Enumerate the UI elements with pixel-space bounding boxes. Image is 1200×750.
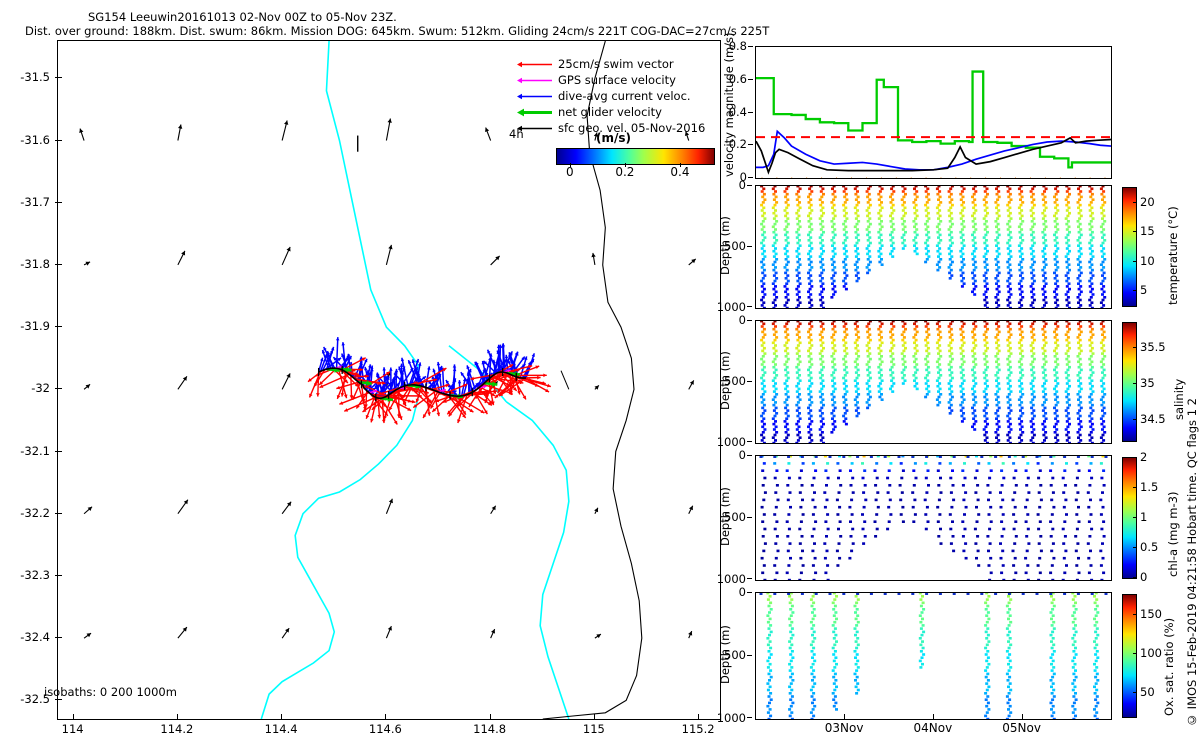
colorbar-tick-mark	[1133, 614, 1137, 615]
colorbar-tick-label: 20	[1140, 195, 1155, 209]
oxygen-panel[interactable]	[755, 592, 1112, 720]
map-x-tick-label: 114.4	[265, 722, 298, 736]
map-x-tick-mark	[177, 714, 178, 720]
temperature-colorbar-gradient	[1123, 188, 1136, 306]
map-x-tick-mark	[73, 714, 74, 720]
map-legend-label: dive-avg current veloc.	[558, 89, 691, 103]
salinity-ytick-label: 1000	[717, 435, 746, 449]
colorbar-tick-mark	[1133, 231, 1137, 232]
map-y-tick-mark	[55, 575, 62, 576]
legend-arrow-icon	[516, 59, 552, 70]
map-legend-item-1: GPS surface velocity	[516, 72, 716, 88]
oxygen-ytick-label-mark	[747, 592, 752, 593]
velocity-ytick-mark	[748, 112, 753, 113]
map-y-tick-mark	[55, 77, 62, 78]
colorbar-tick-mark	[1133, 487, 1137, 488]
colorbar-tick-label: 10	[1140, 254, 1155, 268]
map-colorbar-gradient	[557, 149, 714, 164]
colorbar-tick-label: 34.5	[1140, 412, 1166, 426]
salinity-ytick-label: 500	[724, 374, 746, 388]
temperature-yticks: 05001000	[712, 185, 752, 307]
map-colorbar-tick-label: 0	[566, 165, 574, 179]
colorbar-tick-label: 35	[1140, 376, 1155, 390]
map-y-tick-label: -31.5	[20, 70, 50, 84]
colorbar-tick-label: 1	[1140, 510, 1147, 524]
temperature-ytick-label: 0	[739, 178, 746, 192]
velocity-ytick-mark	[748, 177, 753, 178]
colorbar-tick-label: 100	[1140, 646, 1162, 660]
imos-credit: © IMOS 15-Feb-2019 04:21:58 Hobart time.…	[1185, 398, 1199, 727]
map-legend-label: GPS surface velocity	[558, 73, 676, 87]
isobaths-label: isobaths: 0 200 1000m	[44, 685, 177, 699]
time-axis-tick-mark	[1022, 714, 1023, 720]
map-y-tick-label: -31.7	[20, 195, 50, 209]
colorbar-tick-label: 50	[1140, 685, 1155, 699]
velocity-ytick-label: 0.2	[729, 137, 747, 151]
map-x-tick-label: 114.2	[160, 722, 193, 736]
map-legend-item-0: 25cm/s swim vector	[516, 56, 716, 72]
oxygen-ytick-label: 500	[724, 648, 746, 662]
time-axis-tick-mark	[844, 714, 845, 720]
velocity-magnitude-yticks: 00.20.40.60.8	[715, 46, 753, 177]
colorbar-tick-label: 0.5	[1140, 540, 1158, 554]
map-x-axis: 114114.2114.4114.6114.8115115.2	[57, 720, 719, 740]
temperature-ytick-label-mark	[747, 246, 752, 247]
colorbar-tick-label: 15	[1140, 224, 1155, 238]
chlorophyll-ytick-label: 500	[724, 510, 746, 524]
oxygen-ytick-label: 1000	[717, 711, 746, 725]
map-y-tick-mark	[55, 140, 62, 141]
map-x-tick-label: 114.8	[473, 722, 506, 736]
salinity-ytick-label-mark	[747, 441, 752, 442]
legend-arrow-icon	[516, 75, 552, 86]
time-axis-tick-mark	[933, 714, 934, 720]
map-x-tick-label: 114.6	[369, 722, 402, 736]
colorbar-tick-mark	[1133, 457, 1137, 458]
oxygen-ytick-label: 0	[739, 585, 746, 599]
colorbar-tick-mark	[1133, 547, 1137, 548]
legend-arrow-icon	[516, 91, 552, 102]
colorbar-tick-mark	[1133, 261, 1137, 262]
chlorophyll-colorbar-label: chl-a (mg m-3)	[1166, 457, 1180, 577]
map-y-tick-mark	[55, 388, 62, 389]
map-y-tick-mark	[55, 326, 62, 327]
velocity-magnitude-plot	[756, 47, 1111, 178]
temperature-section-plot	[756, 186, 1111, 308]
velocity-ytick-label: 0.6	[729, 72, 747, 86]
velocity-ytick-label: 0.8	[729, 39, 747, 53]
map-legend-label: net glider velocity	[558, 105, 662, 119]
map-x-tick-label: 115.2	[682, 722, 715, 736]
time-axis-labels: 03Nov04Nov05Nov	[755, 720, 1110, 738]
temperature-ytick-label: 500	[724, 239, 746, 253]
oxygen-yticks: 05001000	[712, 592, 752, 718]
page-title-line1: SG154 Leeuwin20161013 02-Nov 00Z to 05-N…	[88, 10, 397, 24]
colorbar-tick-label: 5	[1140, 283, 1147, 297]
time-axis-tick-label: 03Nov	[825, 721, 864, 735]
map-x-tick-label: 114	[62, 722, 84, 736]
salinity-ytick-label-mark	[747, 320, 752, 321]
chlorophyll-ytick-label: 1000	[717, 572, 746, 586]
map-legend-label: sfc geo. vel. 05-Nov-2016	[558, 121, 705, 135]
legend-arrow-icon	[516, 107, 552, 118]
map-y-axis: -31.5-31.6-31.7-31.8-31.9-32-32.1-32.2-3…	[0, 40, 55, 718]
chlorophyll-ytick-label-mark	[747, 455, 752, 456]
map-y-tick-label: -32.1	[20, 444, 50, 458]
temperature-colorbar	[1122, 187, 1137, 307]
oxygen-ytick-label-mark	[747, 655, 752, 656]
map-colorbar-ticks: 00.20.4	[546, 164, 726, 180]
colorbar-tick-label: 35.5	[1140, 340, 1166, 354]
map-x-tick-mark	[490, 714, 491, 720]
chlorophyll-colorbar	[1122, 457, 1137, 579]
chlorophyll-colorbar-gradient	[1123, 458, 1136, 578]
salinity-ytick-label: 0	[739, 313, 746, 327]
map-colorbar-tick-label: 0.2	[615, 165, 634, 179]
map-y-tick-label: -31.8	[20, 257, 50, 271]
map-y-tick-mark	[55, 637, 62, 638]
oxygen-colorbar	[1122, 594, 1137, 718]
colorbar-tick-mark	[1133, 290, 1137, 291]
map-colorbar-tick-label: 0.4	[670, 165, 689, 179]
map-y-tick-label: -31.6	[20, 133, 50, 147]
time-axis-tick-label: 04Nov	[913, 721, 952, 735]
colorbar-tick-label: 1.5	[1140, 480, 1158, 494]
map-colorbar	[556, 148, 715, 165]
map-y-tick-mark	[55, 513, 62, 514]
map-y-tick-mark	[55, 264, 62, 265]
page-title-line2: Dist. over ground: 188km. Dist. swum: 86…	[25, 24, 769, 38]
colorbar-tick-mark	[1133, 419, 1137, 420]
map-y-tick-mark	[55, 202, 62, 203]
map-x-tick-mark	[385, 714, 386, 720]
map-legend-item-2: dive-avg current veloc.	[516, 88, 716, 104]
colorbar-tick-mark	[1133, 383, 1137, 384]
map-y-tick-mark	[55, 451, 62, 452]
map-y-tick-label: -32.4	[20, 630, 50, 644]
salinity-section-plot	[756, 321, 1111, 443]
salinity-colorbar-label: salinity	[1172, 340, 1186, 420]
map-y-tick-label: -31.9	[20, 319, 50, 333]
colorbar-tick-mark	[1133, 517, 1137, 518]
colorbar-tick-mark	[1133, 577, 1137, 578]
map-x-tick-label: 115	[583, 722, 605, 736]
map-y-tick-label: -32	[31, 381, 50, 395]
legend-arrow-icon	[516, 123, 552, 134]
temperature-ytick-label-mark	[747, 306, 752, 307]
salinity-panel[interactable]	[755, 320, 1112, 444]
velocity-ytick-mark	[748, 46, 753, 47]
map-x-tick-mark	[594, 714, 595, 720]
salinity-yticks: 05001000	[712, 320, 752, 442]
colorbar-tick-mark	[1133, 347, 1137, 348]
chlorophyll-section-plot	[756, 456, 1111, 580]
map-x-tick-mark	[281, 714, 282, 720]
temperature-colorbar-label: temperature (°C)	[1166, 187, 1180, 305]
map-y-tick-label: -32.2	[20, 506, 50, 520]
chlorophyll-panel[interactable]	[755, 455, 1112, 581]
map-y-tick-label: -32.3	[20, 568, 50, 582]
colorbar-tick-mark	[1133, 653, 1137, 654]
chlorophyll-ytick-label: 0	[739, 448, 746, 462]
temperature-ytick-label-mark	[747, 185, 752, 186]
temperature-panel[interactable]	[755, 185, 1112, 309]
colorbar-tick-mark	[1133, 692, 1137, 693]
salinity-ytick-label-mark	[747, 381, 752, 382]
map-legend-item-3: net glider velocity	[516, 104, 716, 120]
colorbar-unit-label: (m/s)	[596, 131, 631, 145]
colorbar-tick-label: 0	[1140, 570, 1147, 584]
map-x-tick-mark	[698, 714, 699, 720]
time-axis-tick-label: 05Nov	[1002, 721, 1041, 735]
oxygen-ytick-label-mark	[747, 717, 752, 718]
velocity-ytick-label: 0.4	[729, 105, 747, 119]
velocity-ytick-mark	[748, 144, 753, 145]
oxygen-colorbar-label: Ox. sat. ratio (%)	[1162, 594, 1176, 716]
chlorophyll-yticks: 05001000	[712, 455, 752, 579]
map-y-tick-mark	[55, 699, 62, 700]
colorbar-tick-label: 2	[1140, 450, 1147, 464]
chlorophyll-ytick-label-mark	[747, 578, 752, 579]
chlorophyll-ytick-label-mark	[747, 517, 752, 518]
temperature-ytick-label: 1000	[717, 300, 746, 314]
oxygen-section-plot	[756, 593, 1111, 719]
velocity-magnitude-panel[interactable]	[755, 46, 1112, 179]
velocity-ytick-mark	[748, 79, 753, 80]
colorbar-tick-label: 150	[1140, 607, 1162, 621]
map-legend-label: 25cm/s swim vector	[558, 57, 674, 71]
colorbar-tick-mark	[1133, 202, 1137, 203]
